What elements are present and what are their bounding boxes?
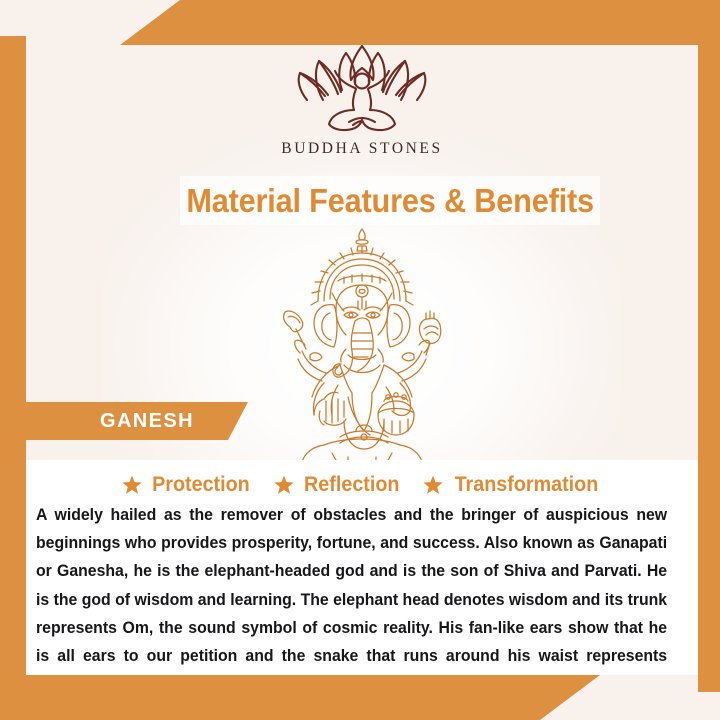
- star-icon: [422, 474, 444, 496]
- poster-root: BUDDHA STONES Material Features & Benefi…: [0, 0, 720, 720]
- frame-left-bar: [0, 36, 26, 692]
- star-icon: [273, 474, 295, 496]
- description-paragraph: A widely hailed as the remover of obstac…: [36, 501, 667, 675]
- feature-item-reflection: Reflection: [273, 473, 403, 497]
- feature-list: Protection Reflection Transformation: [26, 460, 698, 497]
- feature-item-protection: Protection: [121, 473, 253, 497]
- brand-logo: BUDDHA STONES: [26, 45, 698, 158]
- frame-bottom-bar: [0, 675, 720, 720]
- feature-label: Protection: [152, 473, 250, 497]
- lotus-meditation-icon: [283, 45, 441, 138]
- page-title: Material Features & Benefits: [186, 182, 594, 220]
- title-banner: Material Features & Benefits: [180, 176, 600, 225]
- star-icon: [121, 474, 143, 496]
- poster-stage: BUDDHA STONES Material Features & Benefi…: [26, 45, 698, 675]
- feature-label: Reflection: [304, 473, 399, 497]
- frame-right-bar: [698, 36, 720, 692]
- frame-top-bar: [0, 0, 720, 45]
- ganesh-deity-illustration: [252, 225, 472, 465]
- deity-name-label: GANESH: [100, 410, 194, 433]
- brand-name: BUDDHA STONES: [26, 140, 698, 158]
- deity-name-band: GANESH: [26, 402, 248, 440]
- feature-label: Transformation: [455, 473, 599, 497]
- feature-item-transformation: Transformation: [422, 473, 603, 497]
- description-card: Protection Reflection Transformation A w…: [26, 460, 698, 675]
